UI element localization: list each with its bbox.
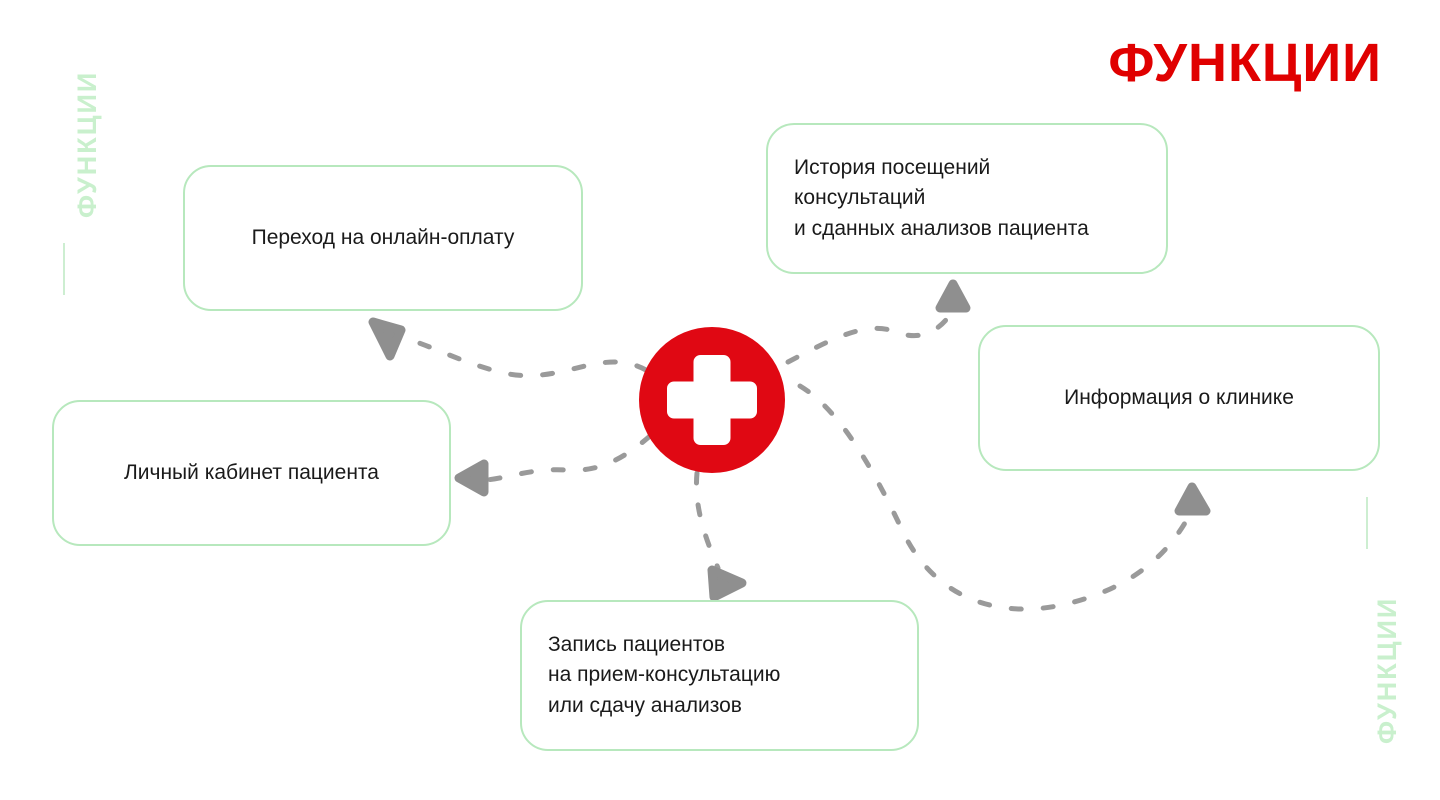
node-history-label: История посещений консультаций и сданных…: [768, 153, 1089, 244]
node-cabinet[interactable]: Личный кабинет пациента: [52, 400, 451, 546]
node-clinic[interactable]: Информация о клинике: [978, 325, 1380, 471]
node-history-line-1: История посещений: [794, 156, 990, 179]
connector-to-history: [788, 312, 952, 362]
arrowhead-to-clinic: [1179, 487, 1206, 511]
node-cabinet-label: Личный кабинет пациента: [98, 458, 405, 488]
node-booking-line-3: или сдачу анализов: [548, 694, 742, 717]
connector-to-booking: [696, 473, 718, 568]
connector-to-payment: [404, 338, 646, 376]
arrowhead-to-history: [940, 284, 966, 308]
arrowhead-to-payment: [373, 322, 401, 356]
node-booking-label: Запись пациентов на прием-консультацию и…: [522, 630, 780, 721]
node-history-line-3: и сданных анализов пациента: [794, 217, 1089, 240]
diagram-canvas: ФУНКЦИИ ФУНКЦИИ ФУНКЦИИ: [0, 0, 1440, 800]
node-payment[interactable]: Переход на онлайн-оплату: [183, 165, 583, 311]
node-clinic-label: Информация о клинике: [1038, 383, 1320, 413]
node-history-line-2: консультаций: [794, 186, 925, 209]
node-booking-line-1: Запись пациентов: [548, 633, 725, 656]
node-booking-line-2: на прием-консультацию: [548, 663, 780, 686]
medical-cross-badge-icon: [639, 327, 785, 473]
node-booking[interactable]: Запись пациентов на прием-консультацию и…: [520, 600, 919, 751]
connector-to-cabinet: [486, 436, 650, 480]
arrowhead-to-cabinet: [459, 464, 484, 492]
arrowhead-to-booking: [712, 570, 742, 597]
node-history[interactable]: История посещений консультаций и сданных…: [766, 123, 1168, 274]
node-payment-label: Переход на онлайн-оплату: [226, 223, 541, 253]
